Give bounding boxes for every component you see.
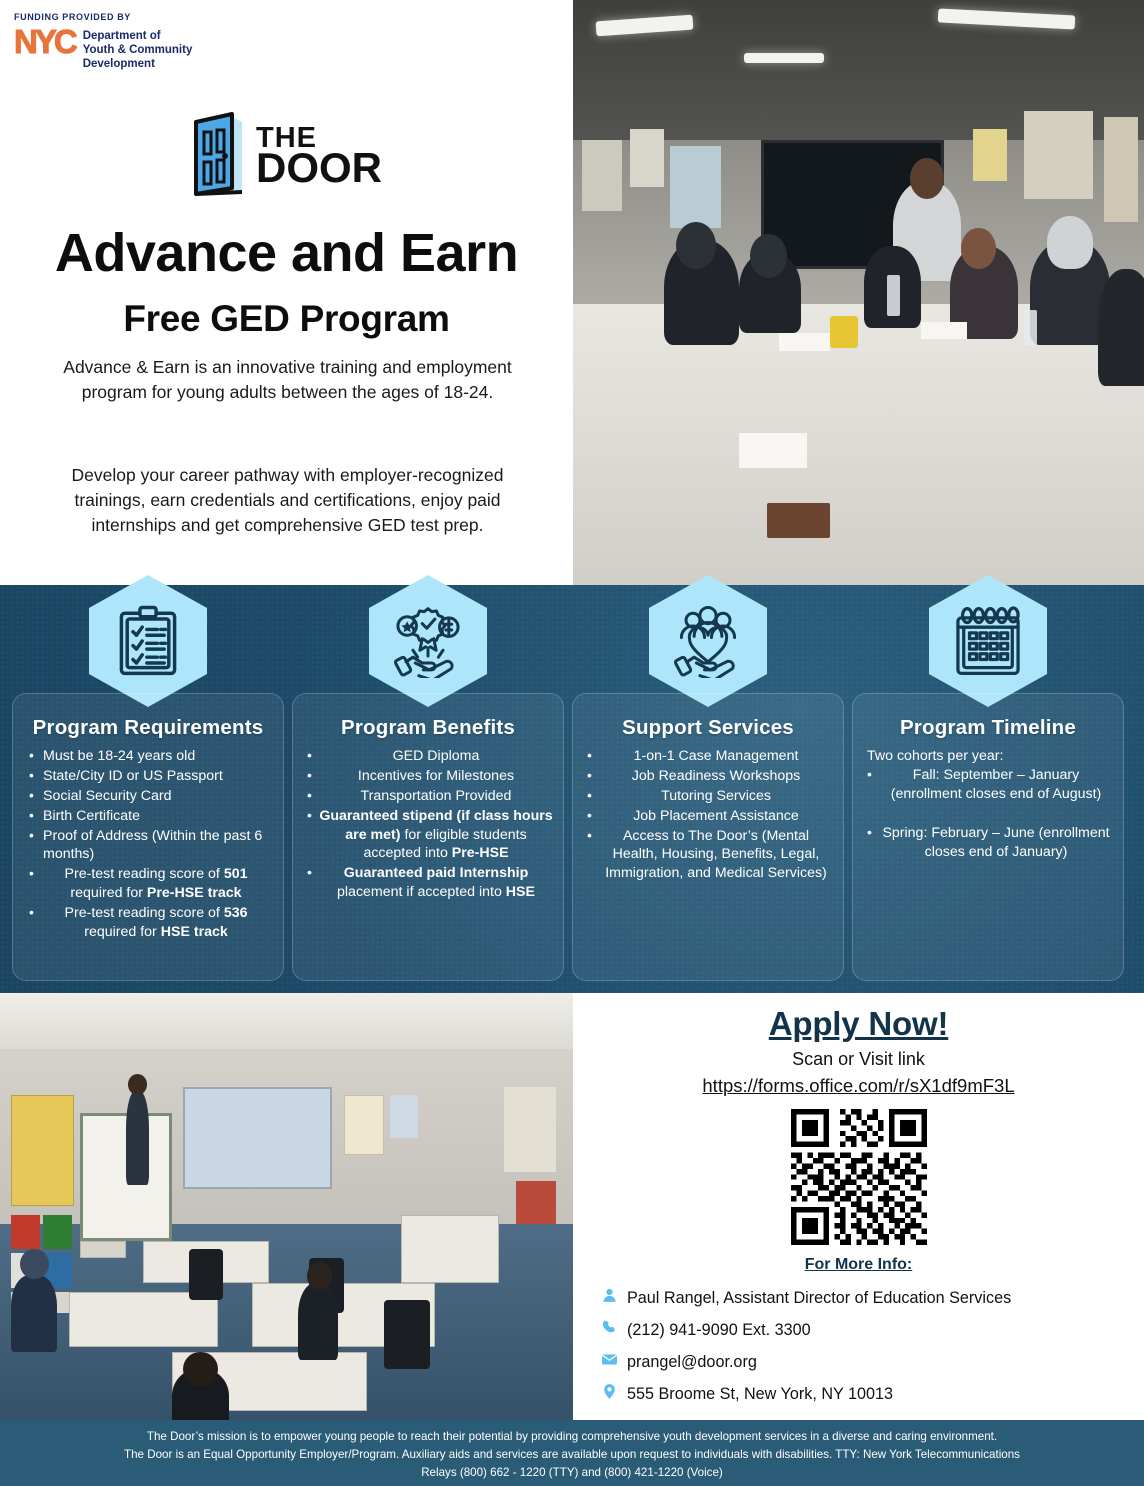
contact-phone[interactable]: (212) 941-9090 Ext. 3300 xyxy=(627,1321,811,1340)
list-item: Pre-test reading score of 536 required f… xyxy=(23,904,273,942)
for-more-info-heading: For More Info: xyxy=(573,1256,1144,1274)
logo-line-door: DOOR xyxy=(256,151,382,185)
card-support-services: Support Services 1-on-1 Case Management … xyxy=(572,693,844,981)
scan-instruction: Scan or Visit link xyxy=(573,1049,1144,1070)
footer-line-2: The Door is an Equal Opportunity Employe… xyxy=(0,1446,1144,1464)
card-title: Program Timeline xyxy=(863,716,1113,740)
footer-disclaimer: The Door’s mission is to empower young p… xyxy=(0,1420,1144,1486)
list-item: Incentives for Milestones xyxy=(303,767,553,786)
footer-line-3: Relays (800) 662 - 1220 (TTY) and (800) … xyxy=(0,1464,1144,1482)
list-item: GED Diploma xyxy=(303,747,553,766)
list-item: Guaranteed paid Internship placement if … xyxy=(303,864,553,902)
contact-row-address: 555 Broome St, New York, NY 10013 xyxy=(601,1382,1144,1406)
card-title: Program Requirements xyxy=(23,716,273,740)
funder-department-name: Department of Youth & Community Developm… xyxy=(83,26,193,71)
card-list: Fall: September – January (enrollment cl… xyxy=(863,766,1113,862)
card-program-timeline: Program Timeline Two cohorts per year: F… xyxy=(852,693,1124,981)
list-item: Guaranteed stipend (if class hours are m… xyxy=(303,807,553,864)
card-program-requirements: Program Requirements Must be 18-24 years… xyxy=(12,693,284,981)
funder-dept-line-2: Youth & Community xyxy=(83,43,193,57)
card-program-benefits: Program Benefits GED Diploma Incentives … xyxy=(292,693,564,981)
intro-paragraph-2: Develop your career pathway with employe… xyxy=(60,463,515,538)
the-door-logo: THE DOOR xyxy=(190,112,382,201)
funder-dept-line-1: Department of xyxy=(83,29,193,43)
page-subtitle: Free GED Program xyxy=(0,298,573,340)
list-item: Fall: September – January (enrollment cl… xyxy=(863,766,1113,804)
page-title: Advance and Earn xyxy=(0,222,573,284)
classroom-lesson-photo xyxy=(0,993,573,1420)
list-item: Social Security Card xyxy=(23,787,273,806)
list-item: Pre-test reading score of 501 required f… xyxy=(23,865,273,903)
list-item: Birth Certificate xyxy=(23,807,273,826)
list-item: Job Readiness Workshops xyxy=(583,767,833,786)
apply-now-heading: Apply Now! xyxy=(573,993,1144,1043)
highlights-band: Program Requirements Must be 18-24 years… xyxy=(0,585,1144,993)
contact-row-person: Paul Rangel, Assistant Director of Educa… xyxy=(601,1286,1144,1310)
flyer-page: FUNDING PROVIDED BY NYC Department of Yo… xyxy=(0,0,1144,1486)
list-item: Tutoring Services xyxy=(583,787,833,806)
application-link[interactable]: https://forms.office.com/r/sX1df9mF3L xyxy=(573,1075,1144,1097)
contact-row-email: prangel@door.org xyxy=(601,1350,1144,1374)
funder-dept-line-3: Development xyxy=(83,57,193,71)
funding-label: FUNDING PROVIDED BY xyxy=(14,12,254,22)
classroom-discussion-photo xyxy=(573,0,1144,585)
apply-section: Apply Now! Scan or Visit link https://fo… xyxy=(573,993,1144,1420)
the-door-wordmark: THE DOOR xyxy=(256,127,382,185)
qr-code[interactable] xyxy=(573,1109,1144,1245)
door-icon xyxy=(190,112,246,201)
phone-icon xyxy=(601,1318,618,1342)
contact-list: Paul Rangel, Assistant Director of Educa… xyxy=(573,1286,1144,1406)
card-title: Program Benefits xyxy=(303,716,553,740)
contact-address: 555 Broome St, New York, NY 10013 xyxy=(627,1385,893,1404)
list-item: Proof of Address (Within the past 6 mont… xyxy=(23,827,273,865)
list-item: Job Placement Assistance xyxy=(583,807,833,826)
footer-line-1: The Door’s mission is to empower young p… xyxy=(0,1428,1144,1446)
card-title: Support Services xyxy=(583,716,833,740)
envelope-icon xyxy=(601,1350,618,1374)
intro-paragraph-1: Advance & Earn is an innovative training… xyxy=(60,355,515,405)
list-item: 1-on-1 Case Management xyxy=(583,747,833,766)
card-list: GED Diploma Incentives for Milestones Tr… xyxy=(303,747,553,902)
list-item: Must be 18-24 years old xyxy=(23,747,273,766)
contact-email[interactable]: prangel@door.org xyxy=(627,1353,757,1372)
list-item: Spring: February – June (enrollment clos… xyxy=(863,824,1113,862)
list-item: Access to The Door’s (Mental Health, Hou… xyxy=(583,827,833,884)
card-list: Must be 18-24 years old State/City ID or… xyxy=(23,747,273,942)
card-list: 1-on-1 Case Management Job Readiness Wor… xyxy=(583,747,833,883)
list-item: Transportation Provided xyxy=(303,787,553,806)
list-item: State/City ID or US Passport xyxy=(23,767,273,786)
funder-logo: FUNDING PROVIDED BY NYC Department of Yo… xyxy=(14,12,254,71)
timeline-lead: Two cohorts per year: xyxy=(863,747,1113,766)
contact-name: Paul Rangel, Assistant Director of Educa… xyxy=(627,1289,1011,1308)
contact-row-phone: (212) 941-9090 Ext. 3300 xyxy=(601,1318,1144,1342)
location-pin-icon xyxy=(601,1382,618,1406)
nyc-wordmark: NYC xyxy=(14,26,75,57)
person-icon xyxy=(601,1286,618,1310)
